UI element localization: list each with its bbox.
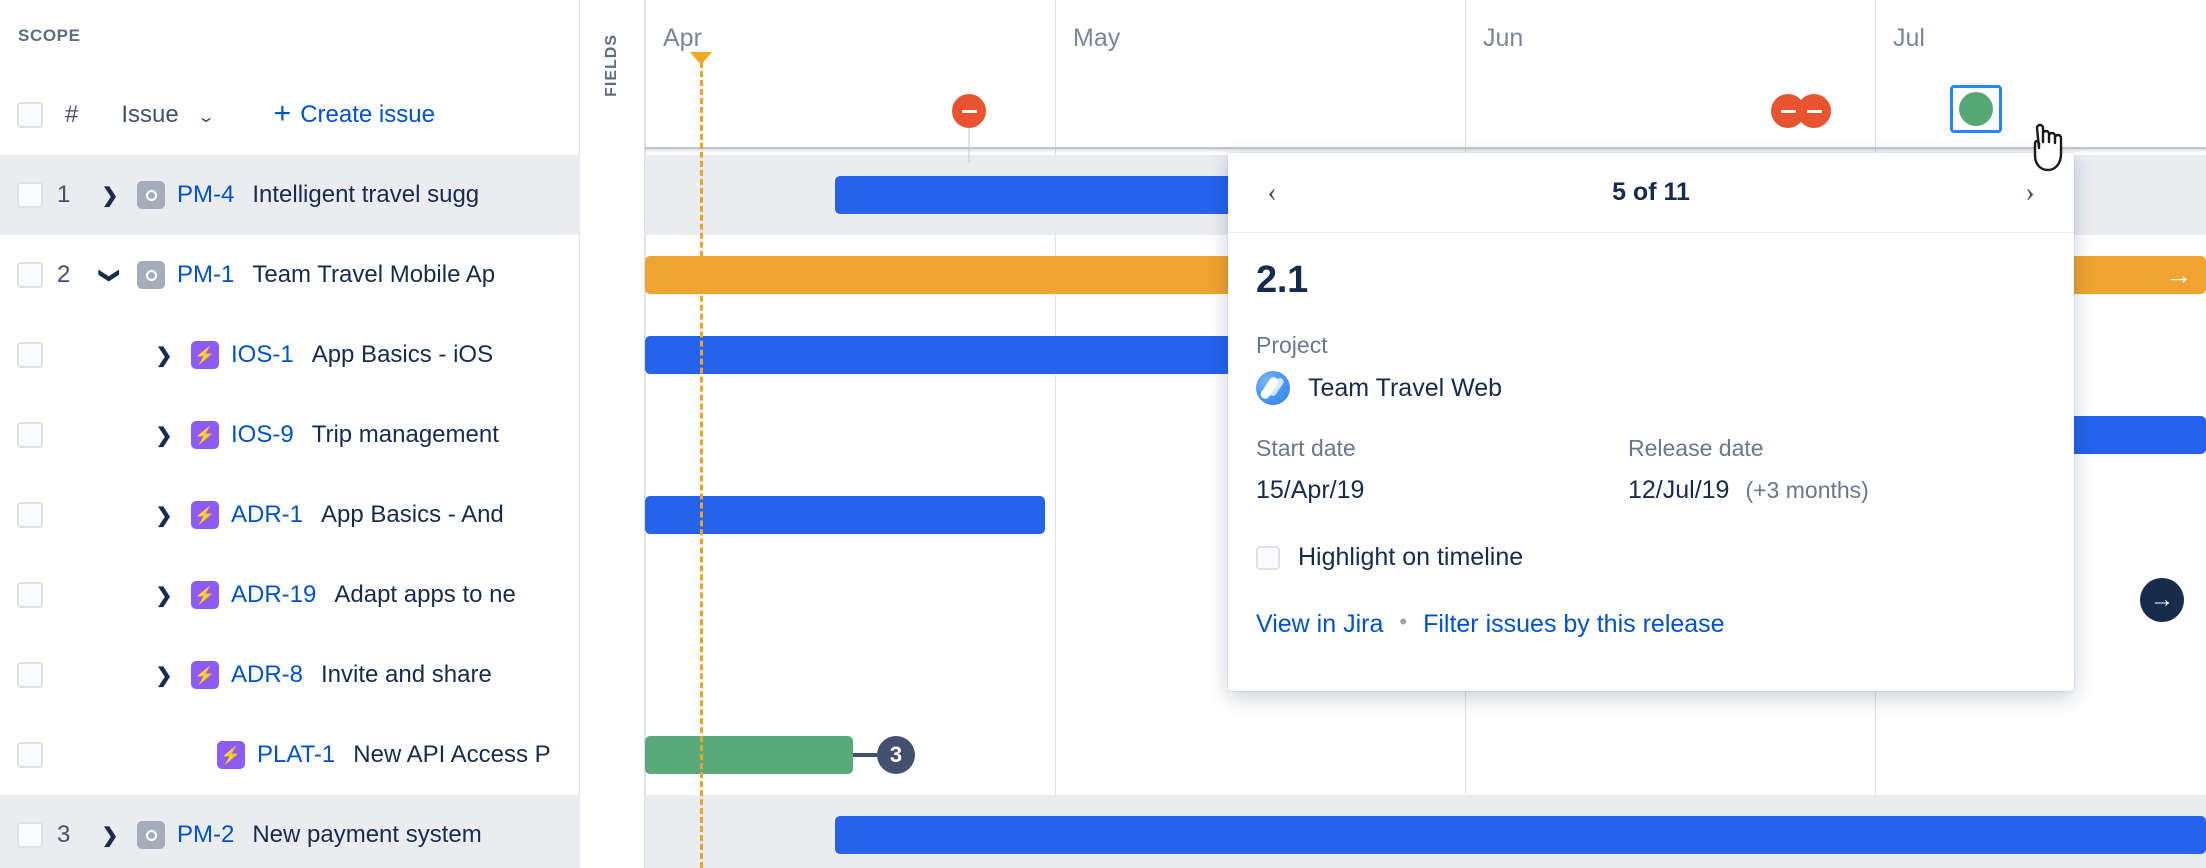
row-content: ❯⚡ADR-8Invite and share [151, 661, 492, 689]
type-icon-glyph: ⚡ [194, 507, 215, 524]
row-checkbox[interactable] [17, 582, 43, 608]
today-marker-triangle [690, 52, 712, 65]
release-date-value-wrap: 12/Jul/19 (+3 months) [1628, 476, 2000, 505]
project-row: Team Travel Web [1256, 371, 2046, 405]
select-all-checkbox[interactable] [17, 102, 43, 128]
epic-type-icon: ⚡ [191, 501, 219, 529]
table-row[interactable]: 2❯PM-1Team Travel Mobile Ap [0, 235, 580, 315]
issue-summary: New payment system [252, 821, 481, 849]
release-date-label: Release date [1628, 435, 2000, 462]
row-checkbox[interactable] [17, 182, 43, 208]
issue-summary: Trip management [312, 421, 499, 449]
project-label: Project [1256, 332, 2046, 359]
row-content: ⚡PLAT-1New API Access P [177, 741, 551, 769]
chevron-right-icon[interactable]: ❯ [97, 183, 123, 208]
issue-rows: 1❯PM-4Intelligent travel sugg2❯PM-1Team … [0, 155, 580, 868]
fields-column-label: FIELDS [603, 34, 621, 97]
type-icon-glyph [146, 270, 157, 281]
issue-key-link[interactable]: PLAT-1 [257, 741, 335, 769]
type-icon-glyph: ⚡ [194, 587, 215, 604]
view-in-jira-link[interactable]: View in Jira [1256, 610, 1383, 639]
release-date-column: Release date 12/Jul/19 (+3 months) [1628, 435, 2000, 505]
row-checkbox[interactable] [17, 822, 43, 848]
row-content: ❯⚡ADR-1App Basics - And [151, 501, 504, 529]
month-label-jun: Jun [1483, 24, 1523, 53]
row-number: 3 [57, 821, 97, 849]
column-header-number: # [65, 101, 78, 129]
issue-key-link[interactable]: IOS-9 [231, 421, 294, 449]
epic-type-icon: ⚡ [191, 581, 219, 609]
row-content: ❯⚡IOS-1App Basics - iOS [151, 341, 493, 369]
unreleased-release-icon [952, 94, 986, 128]
create-issue-label: Create issue [300, 101, 435, 129]
gantt-bar[interactable] [645, 736, 853, 774]
type-icon-glyph: ⚡ [220, 747, 241, 764]
plus-icon: + [274, 99, 292, 129]
issue-summary: Invite and share [321, 661, 492, 689]
table-row[interactable]: ❯⚡ADR-8Invite and share [0, 635, 580, 715]
release-marker-stem [969, 128, 970, 163]
initiative-type-icon [137, 181, 165, 209]
column-header-issue-label: Issue [121, 101, 178, 128]
table-row[interactable]: ⚡PLAT-1New API Access P [0, 715, 580, 795]
prev-release-button[interactable]: ‹ [1244, 177, 1300, 209]
popup-body: 2.1 Project Team Travel Web Start date 1… [1228, 233, 2074, 639]
issue-key-link[interactable]: PM-1 [177, 261, 234, 289]
filter-issues-link[interactable]: Filter issues by this release [1423, 610, 1725, 639]
chevron-right-icon[interactable]: ❯ [151, 503, 177, 528]
gantt-bar[interactable] [835, 816, 2206, 854]
release-date-offset: (+3 months) [1745, 477, 1868, 504]
row-number: 1 [57, 181, 97, 209]
type-icon-glyph [146, 190, 157, 201]
unreleased-release-icon [1797, 94, 1831, 128]
dependency-line [853, 753, 877, 757]
issue-summary: App Basics - And [321, 501, 504, 529]
issue-key-link[interactable]: ADR-1 [231, 501, 303, 529]
chevron-right-icon[interactable]: ❯ [151, 583, 177, 608]
table-row[interactable]: 3❯PM-2New payment system [0, 795, 580, 868]
chevron-right-icon[interactable]: ❯ [97, 823, 123, 848]
release-marker-unreleased-marker-3[interactable] [1797, 94, 1831, 128]
release-marker-unreleased-marker-1[interactable] [952, 94, 986, 128]
scope-title: SCOPE [18, 26, 81, 46]
column-header-issue[interactable]: Issue ⌄ [121, 101, 213, 129]
issue-summary: Team Travel Mobile Ap [252, 261, 495, 289]
row-checkbox[interactable] [17, 422, 43, 448]
epic-type-icon: ⚡ [217, 741, 245, 769]
dependency-indicator[interactable]: 3 [853, 736, 915, 774]
mouse-cursor-pointer-icon [2027, 122, 2071, 174]
issue-summary: Adapt apps to ne [334, 581, 515, 609]
row-checkbox[interactable] [17, 342, 43, 368]
bar-overflow-arrow-icon: → [2166, 262, 2192, 288]
project-name: Team Travel Web [1308, 374, 1502, 403]
chevron-down-icon: ⌄ [197, 108, 216, 127]
start-date-column: Start date 15/Apr/19 [1256, 435, 1628, 505]
row-content: ❯PM-4Intelligent travel sugg [97, 181, 479, 209]
popup-links: View in Jira • Filter issues by this rel… [1256, 610, 2046, 639]
table-row[interactable]: ❯⚡IOS-1App Basics - iOS [0, 315, 580, 395]
release-counter: 5 of 11 [1300, 178, 2002, 207]
initiative-type-icon [137, 261, 165, 289]
chevron-down-icon[interactable]: ❯ [98, 262, 123, 288]
create-issue-button[interactable]: + Create issue [274, 100, 435, 130]
type-icon-glyph [146, 830, 157, 841]
month-label-jul: Jul [1893, 24, 1925, 53]
scope-panel: SCOPE # Issue ⌄ + Create issue 1❯PM-4Int… [0, 0, 580, 868]
start-date-value: 15/Apr/19 [1256, 476, 1628, 505]
table-row[interactable]: 1❯PM-4Intelligent travel sugg [0, 155, 580, 235]
table-row[interactable]: ❯⚡ADR-19Adapt apps to ne [0, 555, 580, 635]
release-detail-popup: ‹ 5 of 11 › 2.1 Project Team Travel Web … [1228, 153, 2074, 691]
chevron-right-icon[interactable]: ❯ [151, 663, 177, 688]
highlight-on-timeline-checkbox[interactable] [1256, 546, 1280, 570]
dependency-count-badge: 3 [877, 736, 915, 774]
row-number: 2 [57, 261, 97, 289]
type-icon-glyph: ⚡ [194, 347, 215, 364]
issue-key-link[interactable]: ADR-19 [231, 581, 316, 609]
arrow-right-icon: → [2150, 586, 2174, 614]
release-marker-released-marker-selected[interactable] [1950, 85, 2002, 133]
issue-key-link[interactable]: PM-4 [177, 181, 234, 209]
issue-key-link[interactable]: PM-2 [177, 821, 234, 849]
release-name: 2.1 [1256, 259, 2046, 302]
dates-row: Start date 15/Apr/19 Release date 12/Jul… [1256, 435, 2046, 505]
highlight-on-timeline-row[interactable]: Highlight on timeline [1256, 543, 2046, 572]
issue-summary: App Basics - iOS [312, 341, 493, 369]
start-date-label: Start date [1256, 435, 1628, 462]
issue-summary: New API Access P [353, 741, 550, 769]
row-checkbox[interactable] [17, 502, 43, 528]
epic-type-icon: ⚡ [191, 341, 219, 369]
epic-type-icon: ⚡ [191, 421, 219, 449]
issue-key-link[interactable]: IOS-1 [231, 341, 294, 369]
scope-toolbar: # Issue ⌄ + Create issue [0, 75, 580, 155]
row-content: ❯⚡IOS-9Trip management [151, 421, 499, 449]
initiative-type-icon [137, 821, 165, 849]
issue-key-link[interactable]: ADR-8 [231, 661, 303, 689]
today-line [700, 62, 703, 868]
type-icon-glyph: ⚡ [194, 427, 215, 444]
highlight-on-timeline-label: Highlight on timeline [1298, 543, 1523, 572]
row-content: ❯⚡ADR-19Adapt apps to ne [151, 581, 516, 609]
row-content: ❯PM-1Team Travel Mobile Ap [97, 261, 495, 289]
month-label-apr: Apr [663, 24, 702, 53]
release-date-value: 12/Jul/19 [1628, 476, 1729, 505]
month-label-may: May [1073, 24, 1120, 53]
issue-summary: Intelligent travel sugg [252, 181, 479, 209]
epic-type-icon: ⚡ [191, 661, 219, 689]
row-checkbox[interactable] [17, 742, 43, 768]
gantt-bar[interactable] [645, 496, 1045, 534]
next-release-button[interactable]: › [2002, 177, 2058, 209]
scroll-right-button[interactable]: → [2140, 578, 2184, 622]
scope-header: SCOPE [0, 0, 579, 75]
link-separator-dot: • [1399, 609, 1407, 635]
timeline-app: AprMayJunJul →13 → FIELDS SCOPE # Issue … [0, 0, 2206, 868]
released-release-icon [1959, 92, 1993, 126]
chevron-right-icon[interactable]: ❯ [151, 423, 177, 448]
chevron-right-icon[interactable]: ❯ [151, 343, 177, 368]
table-row[interactable]: ❯⚡ADR-1App Basics - And [0, 475, 580, 555]
project-avatar-icon [1256, 371, 1290, 405]
row-content: ❯PM-2New payment system [97, 821, 482, 849]
row-checkbox[interactable] [17, 662, 43, 688]
type-icon-glyph: ⚡ [194, 667, 215, 684]
table-row[interactable]: ❯⚡IOS-9Trip management [0, 395, 580, 475]
row-checkbox[interactable] [17, 262, 43, 288]
popup-nav: ‹ 5 of 11 › [1228, 153, 2074, 233]
fields-column[interactable]: FIELDS [580, 0, 645, 868]
